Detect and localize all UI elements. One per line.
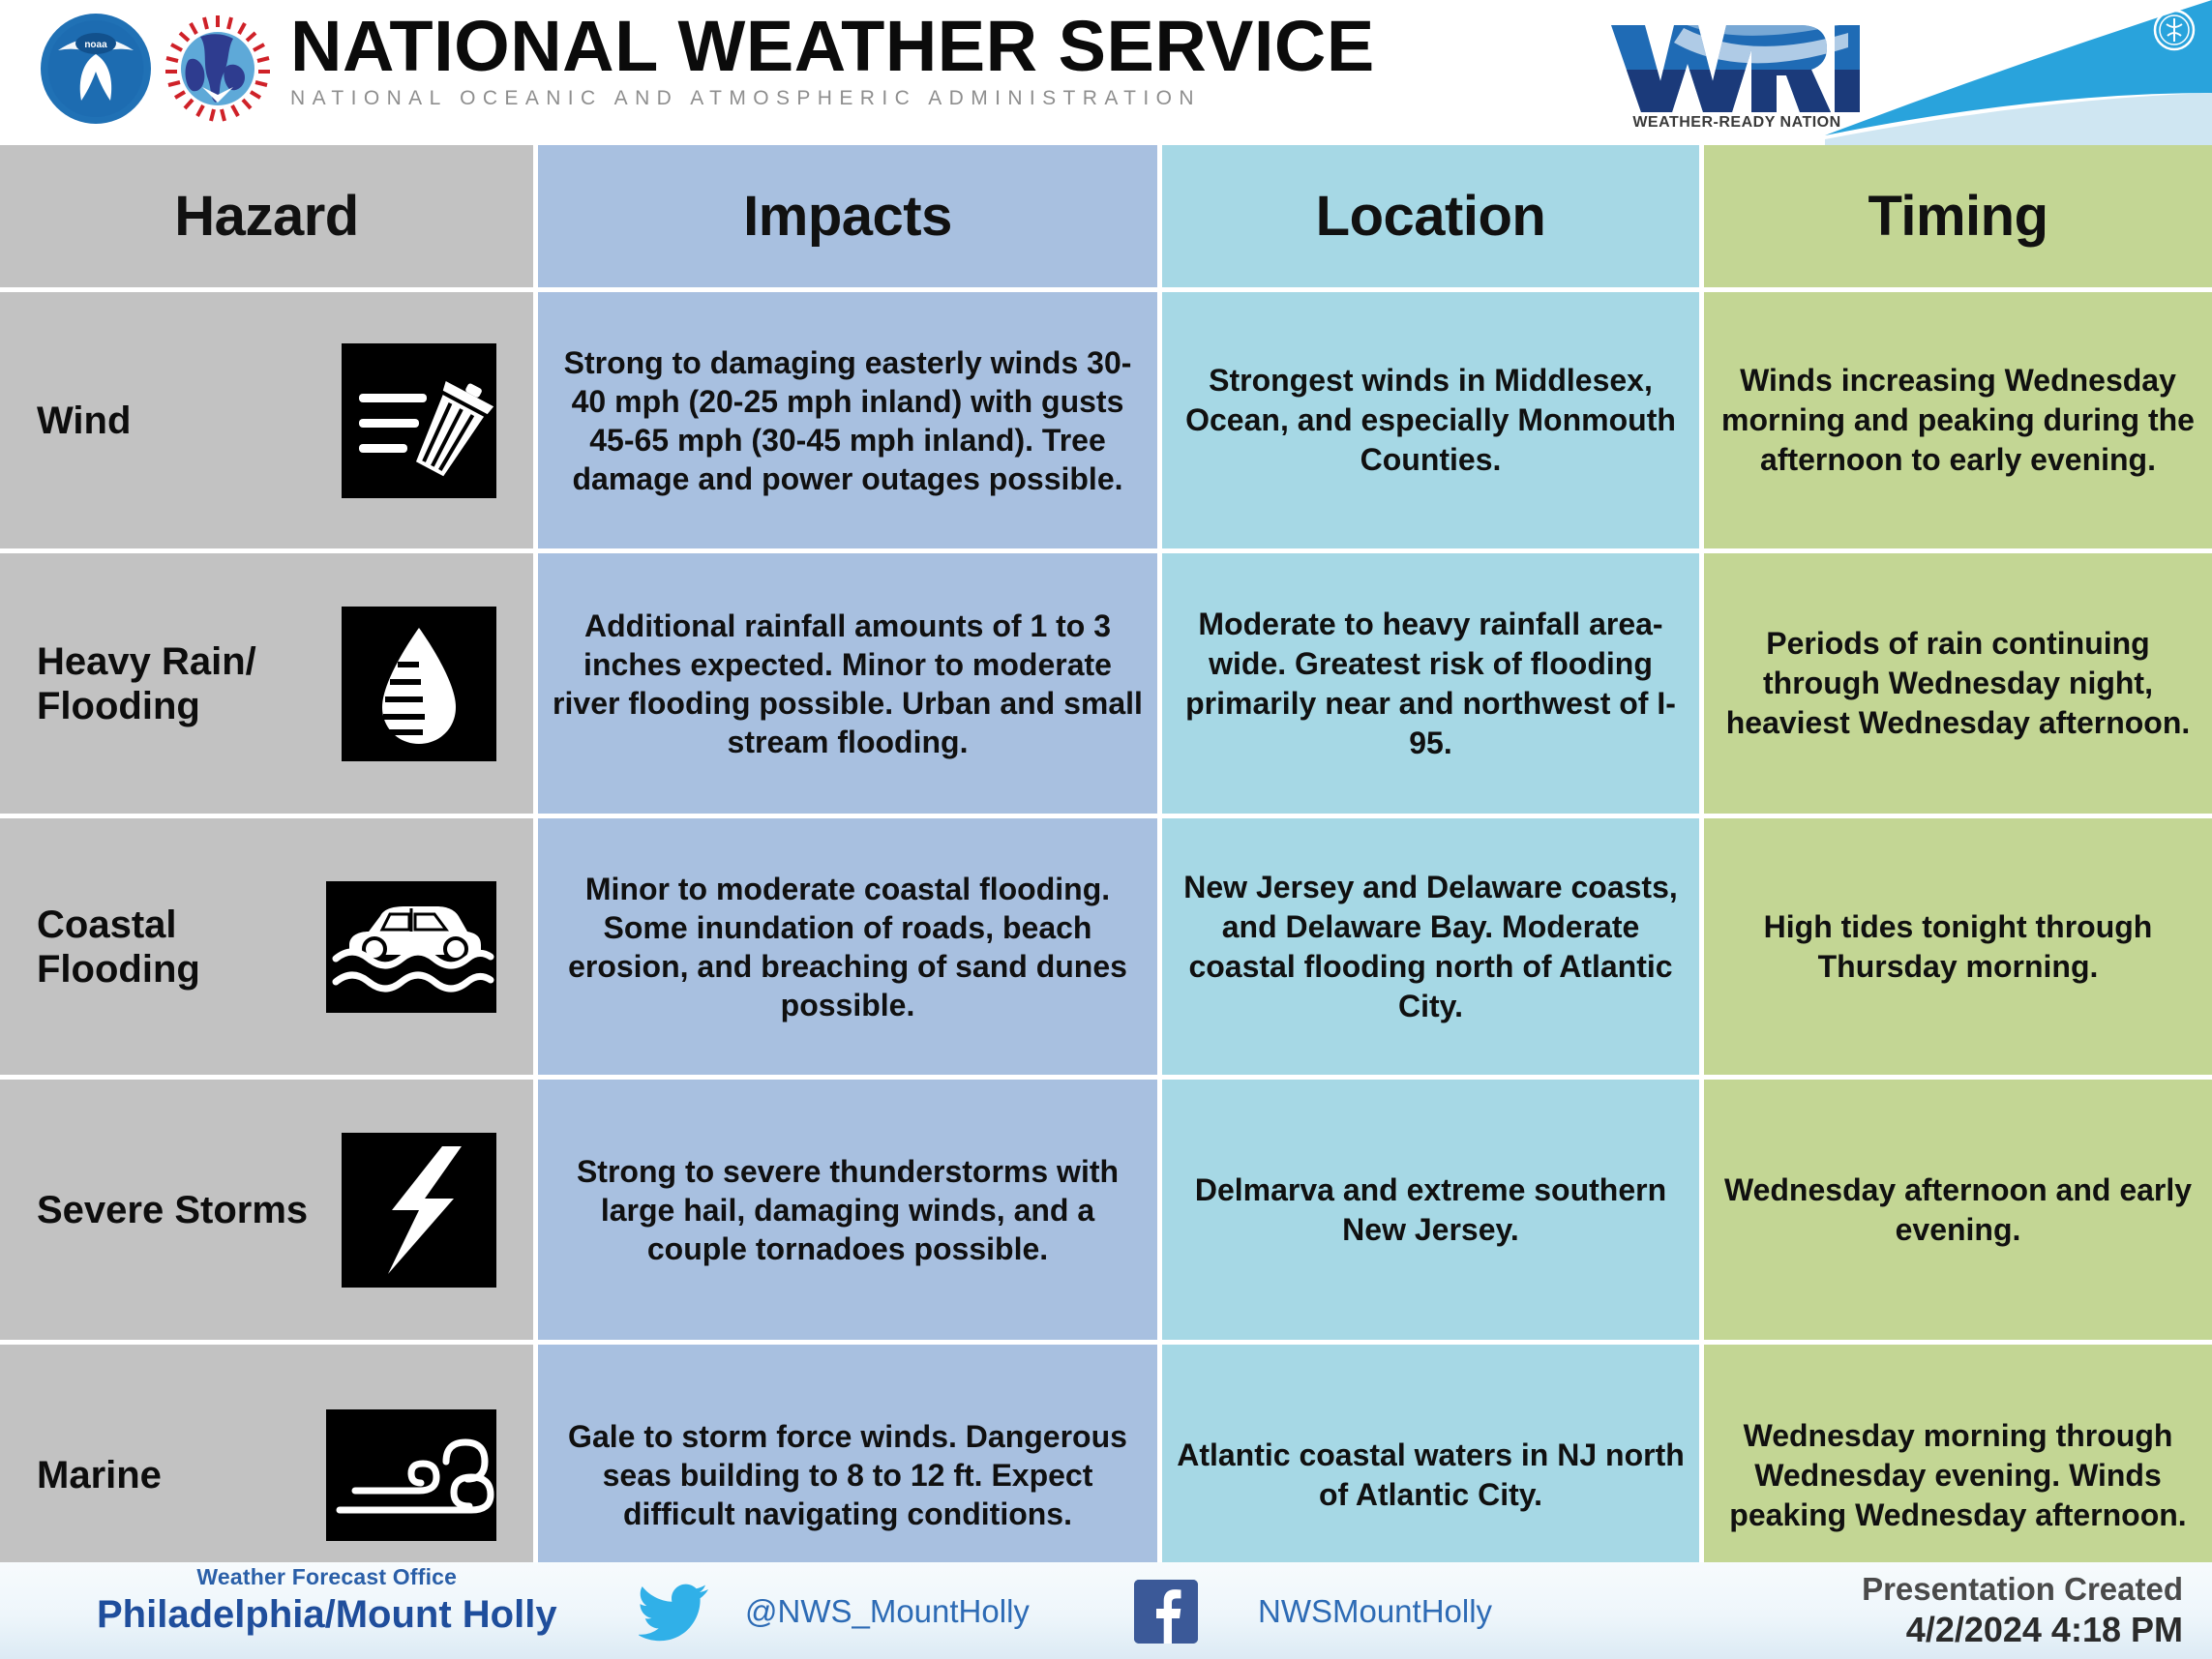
nws-seal-logo — [160, 10, 276, 128]
column-header-hazard-label: Hazard — [174, 184, 358, 249]
twitter-handle[interactable]: @NWS_MountHolly — [745, 1593, 1030, 1630]
table-header-row: Hazard Impacts Location Timing — [0, 145, 2212, 292]
header-title-block: NATIONAL WEATHER SERVICE NATIONAL OCEANI… — [290, 8, 1375, 110]
location-cell-severe-storms: Delmarva and extreme southern New Jersey… — [1162, 1080, 1704, 1345]
facebook-handle[interactable]: NWSMountHolly — [1258, 1593, 1492, 1630]
hazard-label-wind: Wind — [37, 399, 342, 443]
page-footer: Weather Forecast Office Philadelphia/Mou… — [0, 1562, 2212, 1659]
svg-text:noaa: noaa — [84, 40, 107, 50]
hazard-label-heavy-rain: Heavy Rain/ Flooding — [37, 639, 342, 728]
column-header-impacts-label: Impacts — [743, 184, 952, 249]
table-row: Severe Storms Strong to severe thunderst… — [0, 1080, 2212, 1345]
nws-hazard-graphic: noaa — [0, 0, 2212, 1659]
column-header-timing-label: Timing — [1868, 184, 2048, 249]
blowing-trash-can-icon — [342, 343, 496, 498]
created-label: Presentation Created — [1862, 1570, 2183, 1609]
wfo-name: Philadelphia/Mount Holly — [97, 1592, 557, 1637]
impacts-cell-coastal-flooding: Minor to moderate coastal flooding. Some… — [538, 818, 1162, 1080]
impacts-cell-severe-storms: Strong to severe thunderstorms with larg… — [538, 1080, 1162, 1345]
impacts-text-marine: Gale to storm force winds. Dangerous sea… — [552, 1417, 1144, 1533]
hazard-cell-wind: Wind — [0, 292, 538, 553]
location-text-heavy-rain: Moderate to heavy rainfall area-wide. Gr… — [1176, 605, 1686, 763]
wind-swirl-icon — [326, 1409, 496, 1541]
hazard-label-coastal-flooding: Coastal Flooding — [37, 903, 326, 992]
timing-cell-heavy-rain: Periods of rain continuing through Wedne… — [1704, 553, 2212, 818]
location-text-marine: Atlantic coastal waters in NJ north of A… — [1176, 1436, 1686, 1515]
impacts-cell-wind: Strong to damaging easterly winds 30-40 … — [538, 292, 1162, 553]
car-in-water-icon — [326, 881, 496, 1013]
timing-text-coastal-flooding: High tides tonight through Thursday morn… — [1718, 907, 2198, 987]
hazard-cell-heavy-rain: Heavy Rain/ Flooding — [0, 553, 538, 818]
hazard-label-severe-storms: Severe Storms — [37, 1188, 342, 1232]
wfo-label: Weather Forecast Office — [97, 1564, 557, 1590]
impacts-text-severe-storms: Strong to severe thunderstorms with larg… — [552, 1152, 1144, 1268]
location-text-severe-storms: Delmarva and extreme southern New Jersey… — [1176, 1170, 1686, 1250]
column-header-location-label: Location — [1316, 184, 1546, 249]
header-swoosh-decoration — [1806, 0, 2212, 145]
hazard-cell-coastal-flooding: Coastal Flooding — [0, 818, 538, 1080]
column-header-timing: Timing — [1704, 145, 2212, 292]
created-date: 4/2/2024 4:18 PM — [1862, 1609, 2183, 1651]
location-text-coastal-flooding: New Jersey and Delaware coasts, and Dela… — [1176, 868, 1686, 1026]
impacts-text-heavy-rain: Additional rainfall amounts of 1 to 3 in… — [552, 607, 1144, 761]
location-cell-coastal-flooding: New Jersey and Delaware coasts, and Dela… — [1162, 818, 1704, 1080]
timing-cell-coastal-flooding: High tides tonight through Thursday morn… — [1704, 818, 2212, 1080]
facebook-f-icon[interactable] — [1134, 1580, 1198, 1644]
column-header-hazard: Hazard — [0, 145, 538, 292]
timing-cell-wind: Winds increasing Wednesday morning and p… — [1704, 292, 2212, 553]
noaa-circle-logo: noaa — [39, 12, 153, 126]
page-header: noaa — [0, 0, 2212, 145]
column-header-impacts: Impacts — [538, 145, 1162, 292]
table-row: Coastal Flooding — [0, 818, 2212, 1080]
lightning-bolt-icon — [342, 1133, 496, 1288]
impacts-cell-heavy-rain: Additional rainfall amounts of 1 to 3 in… — [538, 553, 1162, 818]
page-title: NATIONAL WEATHER SERVICE — [290, 8, 1375, 85]
timing-text-marine: Wednesday morning through Wednesday even… — [1718, 1416, 2198, 1535]
table-row: Wind — [0, 292, 2212, 553]
page-subtitle: NATIONAL OCEANIC AND ATMOSPHERIC ADMINIS… — [290, 87, 1375, 110]
column-header-location: Location — [1162, 145, 1704, 292]
hazard-cell-severe-storms: Severe Storms — [0, 1080, 538, 1345]
hazard-label-marine: Marine — [37, 1453, 326, 1497]
location-cell-wind: Strongest winds in Middlesex, Ocean, and… — [1162, 292, 1704, 553]
timing-cell-severe-storms: Wednesday afternoon and early evening. — [1704, 1080, 2212, 1345]
rain-drop-icon — [342, 607, 496, 761]
hazard-table: Hazard Impacts Location Timing Wind — [0, 145, 2212, 1562]
timing-text-severe-storms: Wednesday afternoon and early evening. — [1718, 1170, 2198, 1250]
location-cell-heavy-rain: Moderate to heavy rainfall area-wide. Gr… — [1162, 553, 1704, 818]
weather-forecast-office-block: Weather Forecast Office Philadelphia/Mou… — [97, 1564, 557, 1637]
presentation-created-block: Presentation Created 4/2/2024 4:18 PM — [1862, 1570, 2183, 1651]
table-row: Heavy Rain/ Flooding — [0, 553, 2212, 818]
twitter-bird-icon[interactable] — [639, 1582, 710, 1642]
timing-text-wind: Winds increasing Wednesday morning and p… — [1718, 361, 2198, 480]
impacts-text-coastal-flooding: Minor to moderate coastal flooding. Some… — [552, 870, 1144, 1024]
location-text-wind: Strongest winds in Middlesex, Ocean, and… — [1176, 361, 1686, 480]
timing-text-heavy-rain: Periods of rain continuing through Wedne… — [1718, 624, 2198, 743]
impacts-text-wind: Strong to damaging easterly winds 30-40 … — [552, 343, 1144, 498]
